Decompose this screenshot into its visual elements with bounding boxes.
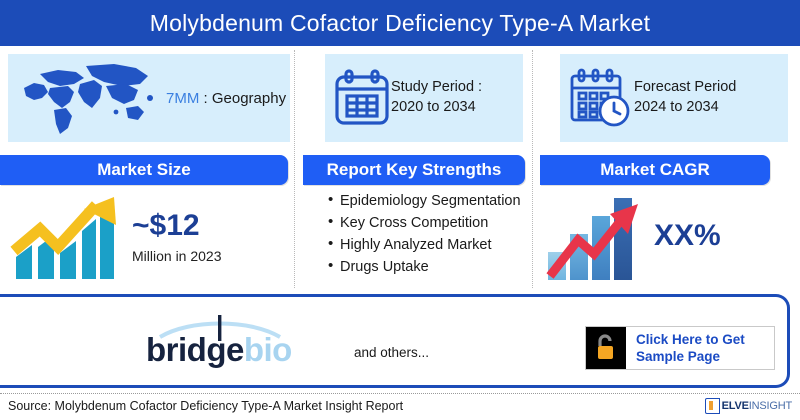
and-others-label: and others... [354, 345, 429, 360]
key-strengths-heading-label: Report Key Strengths [327, 160, 502, 180]
delveinsight-text-insight: INSIGHT [749, 400, 792, 412]
bridgebio-name-part1: bridge [146, 331, 244, 368]
bar-chart-red-arrow-icon [546, 192, 642, 280]
geography-suffix: : Geography [199, 90, 286, 107]
column-divider-left [294, 50, 295, 288]
market-cagr-block: XX% [546, 190, 796, 282]
bridgebio-name-part2: bio [244, 331, 292, 368]
source-text: Source: Molybdenum Cofactor Deficiency T… [8, 399, 403, 413]
cta-line1: Click Here to Get [636, 331, 745, 348]
bridgebio-logo: bridgebio [146, 315, 346, 373]
get-sample-page-label: Click Here to Get Sample Page [636, 331, 745, 366]
delveinsight-text-delve: ELVE [722, 400, 749, 412]
forecast-period-line1: Forecast Period [634, 78, 736, 98]
get-sample-page-button[interactable]: Click Here to Get Sample Page [585, 326, 775, 370]
forecast-period-column: Forecast Period 2024 to 2034 [538, 48, 800, 148]
market-size-heading: Market Size [0, 155, 288, 185]
forecast-period-text: Forecast Period 2024 to 2034 [634, 78, 736, 117]
geography-highlight: 7MM [166, 90, 199, 107]
key-strengths-heading: Report Key Strengths [303, 155, 525, 185]
calendar-clock-icon [568, 66, 634, 130]
market-size-value: ~$12 [132, 211, 222, 241]
geography-column: 7MM : Geography [0, 48, 290, 148]
bar-chart-up-arrow-icon [10, 195, 118, 279]
study-period-column: Study Period : 2020 to 2034 [300, 48, 528, 148]
calendar-icon [333, 67, 391, 129]
market-size-subtitle: Million in 2023 [132, 248, 222, 264]
forecast-period-card: Forecast Period 2024 to 2034 [560, 54, 788, 142]
footer-divider [0, 393, 800, 394]
study-period-text: Study Period : 2020 to 2034 [391, 78, 482, 117]
study-period-line1: Study Period : [391, 78, 482, 98]
key-strengths-list: Epidemiology Segmentation Key Cross Comp… [312, 190, 548, 278]
delveinsight-mark-icon [705, 398, 720, 414]
open-padlock-icon [586, 327, 626, 369]
page-title: Molybdenum Cofactor Deficiency Type-A Ma… [150, 10, 651, 37]
list-item: Highly Analyzed Market [328, 234, 548, 256]
list-item: Key Cross Competition [328, 212, 548, 234]
study-period-card: Study Period : 2020 to 2034 [325, 54, 523, 142]
delveinsight-logo: ELVEINSIGHT [705, 398, 792, 414]
cta-line2: Sample Page [636, 348, 745, 365]
market-cagr-value: XX% [654, 221, 721, 251]
forecast-period-line2: 2024 to 2034 [634, 98, 736, 118]
infographic-page: Molybdenum Cofactor Deficiency Type-A Ma… [0, 0, 800, 420]
list-item: Drugs Uptake [328, 256, 548, 278]
top-card-row: 7MM : Geography [0, 48, 800, 148]
list-item: Epidemiology Segmentation [328, 190, 548, 212]
study-period-line2: 2020 to 2034 [391, 98, 482, 118]
geography-label: 7MM : Geography [166, 90, 286, 107]
geography-card: 7MM : Geography [8, 54, 290, 142]
market-cagr-heading: Market CAGR [540, 155, 770, 185]
market-size-block: ~$12 Million in 2023 [10, 192, 290, 282]
bridgebio-wordmark: bridgebio [146, 333, 292, 366]
market-size-heading-label: Market Size [97, 160, 191, 180]
world-map-icon [14, 58, 164, 138]
header-banner: Molybdenum Cofactor Deficiency Type-A Ma… [0, 0, 800, 46]
market-cagr-heading-label: Market CAGR [600, 160, 710, 180]
market-size-figure: ~$12 Million in 2023 [132, 211, 222, 264]
